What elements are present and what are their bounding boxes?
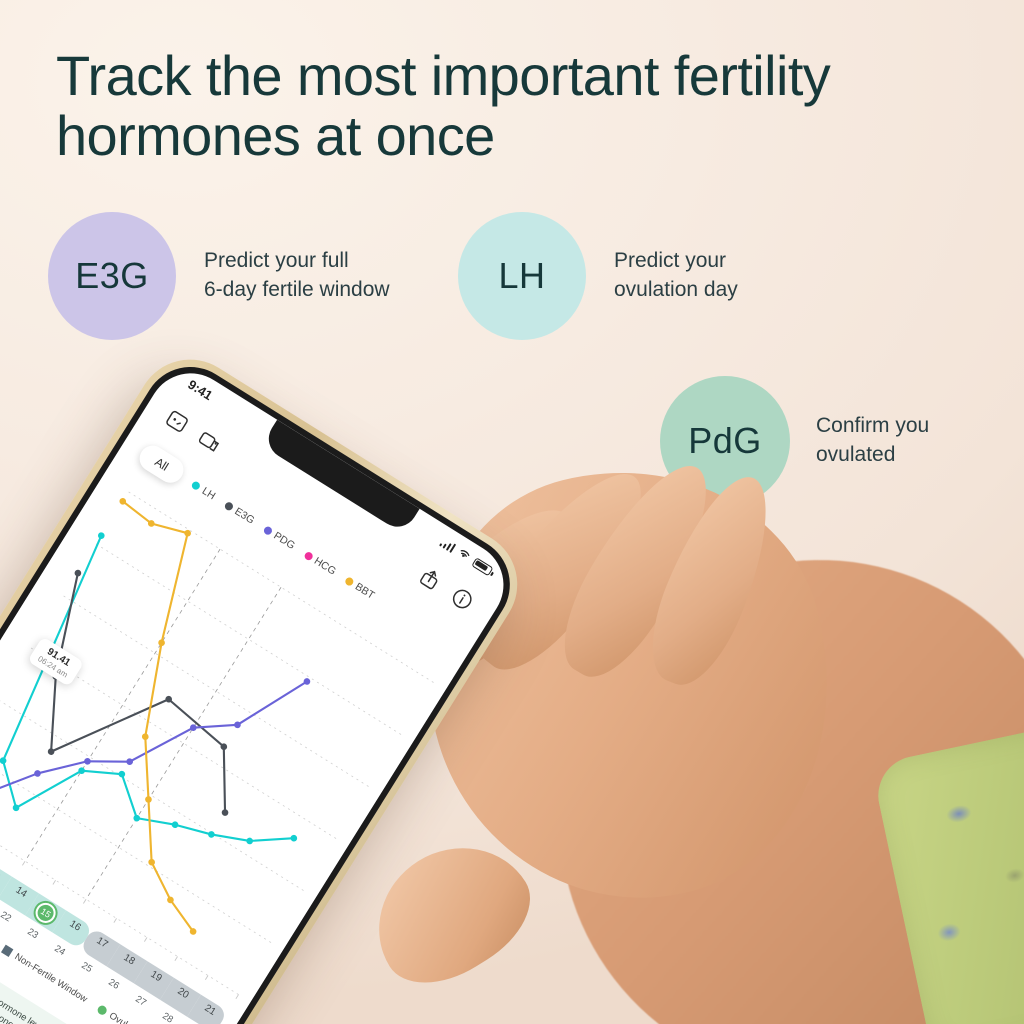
legend-dot-hcg [303, 550, 314, 561]
legend-label-lh: LH [200, 485, 218, 502]
page-title: Track the most important fertility hormo… [56, 46, 986, 167]
badge-e3g: E3G [48, 212, 176, 340]
headline-line-1: Track the most important fertility [56, 44, 830, 107]
feature-e3g: E3G Predict your full 6-day fertile wind… [48, 212, 390, 340]
legend-item-lh[interactable]: LH [190, 479, 218, 503]
legend-item-pdg[interactable]: PDG [261, 523, 297, 552]
legend-label-e3g: E3G [232, 505, 256, 526]
legend-swatch-nonfertile [1, 945, 13, 957]
feature-e3g-description: Predict your full 6-day fertile window [204, 247, 390, 305]
battery-icon [472, 557, 494, 576]
feature-pdg-description: Confirm you ovulated [816, 412, 929, 470]
toolbar-left-group [161, 404, 226, 457]
signal-bars-icon [439, 536, 457, 552]
legend-dot-lh [191, 480, 202, 491]
legend-dot-bbt [344, 576, 355, 587]
promo-canvas: Track the most important fertility hormo… [0, 0, 1024, 1024]
headline-line-2: hormones at once [56, 106, 986, 166]
status-time: 9:41 [185, 377, 215, 404]
legend-label-pdg: PDG [271, 530, 297, 552]
notes-icon[interactable] [193, 425, 226, 458]
legend-label-bbt: BBT [353, 581, 377, 602]
info-icon[interactable] [446, 582, 479, 615]
share-icon[interactable] [413, 562, 446, 595]
legend-item-e3g[interactable]: E3G [222, 499, 256, 527]
wifi-icon [454, 545, 474, 565]
legend-item-hcg[interactable]: HCG [302, 549, 338, 578]
legend-dot-pdg [262, 525, 273, 536]
toolbar-right-group [413, 562, 478, 615]
legend-dot-e3g [223, 501, 234, 512]
legend-swatch-ovulation [96, 1004, 108, 1016]
ovulation-marker: 15 [32, 899, 60, 927]
legend-item-bbt[interactable]: BBT [343, 574, 377, 601]
calendar-icon[interactable] [161, 404, 194, 437]
feature-lh: LH Predict your ovulation day [458, 212, 738, 340]
status-icons [438, 534, 496, 578]
feature-lh-description: Predict your ovulation day [614, 247, 738, 305]
filter-chip-all[interactable]: All [135, 441, 189, 488]
legend-label-hcg: HCG [312, 555, 338, 578]
badge-lh: LH [458, 212, 586, 340]
